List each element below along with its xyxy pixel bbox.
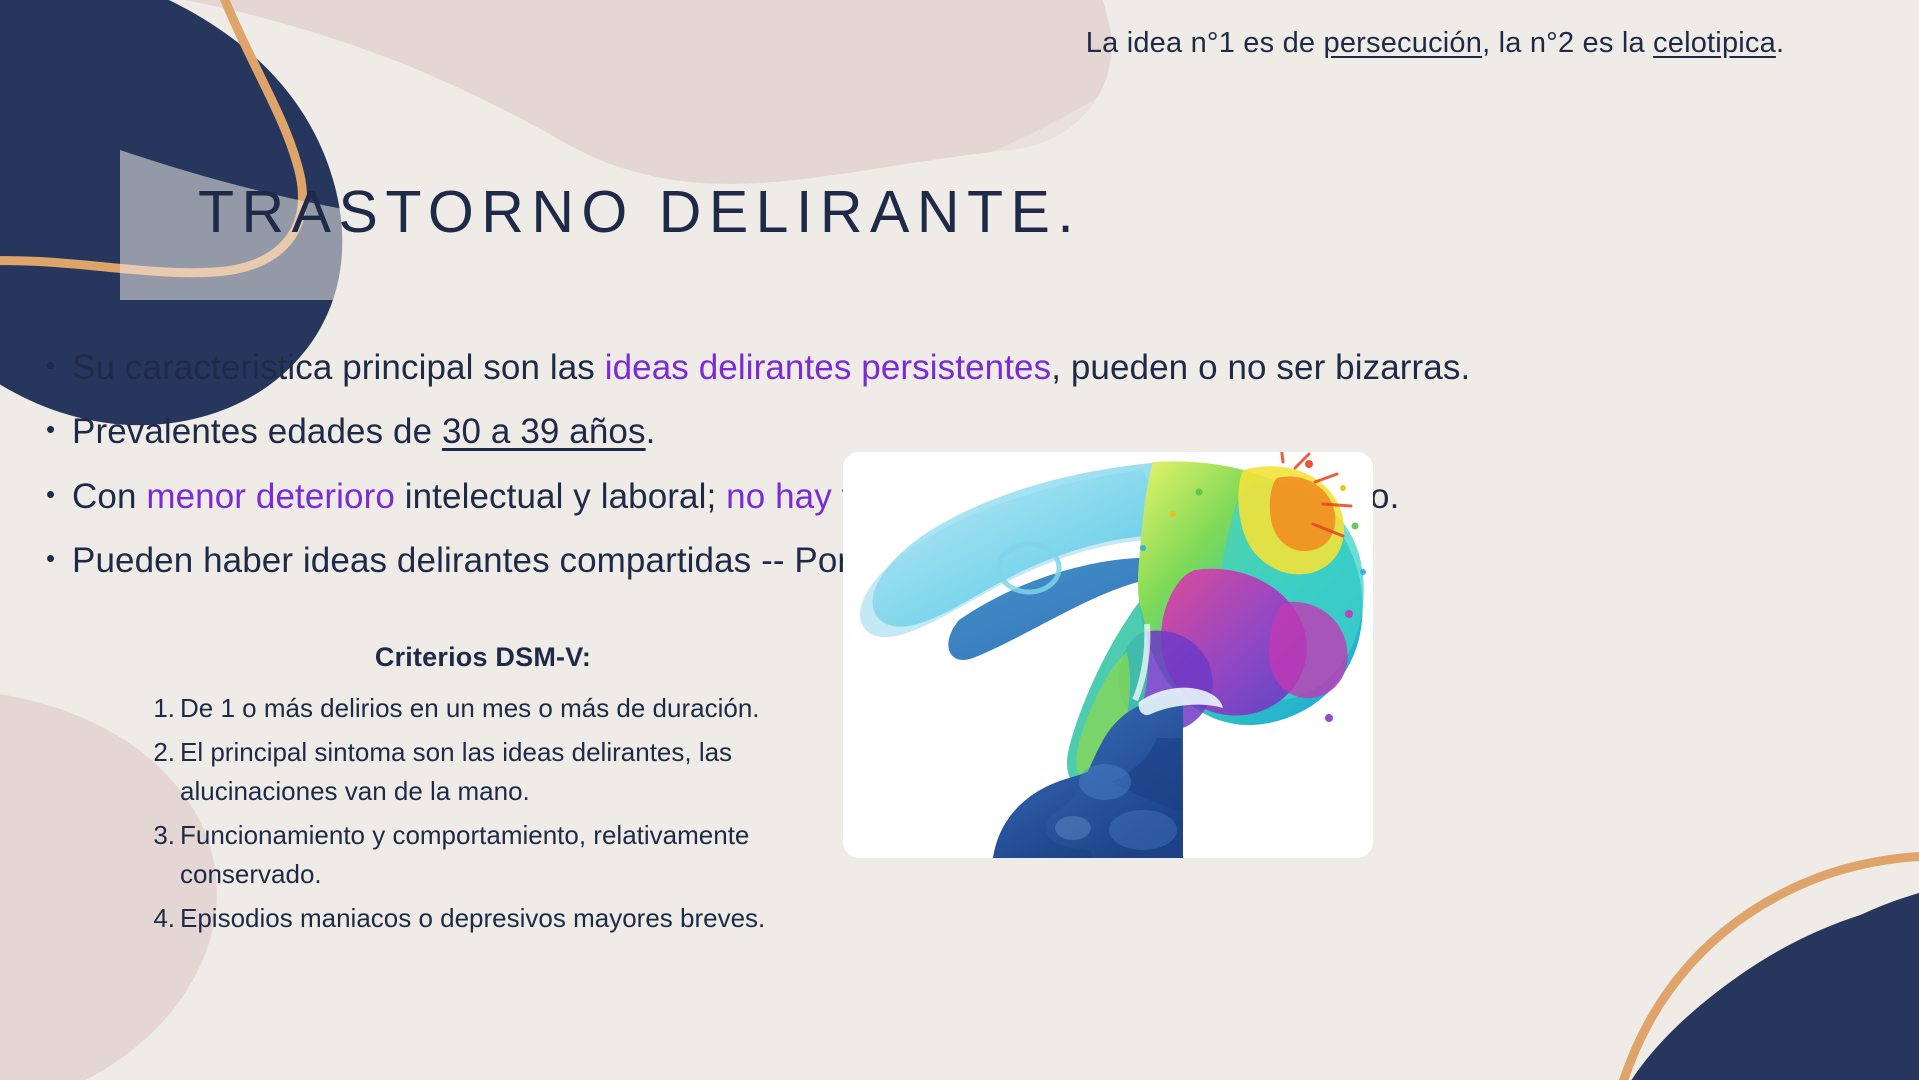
criteria-item: 3.Funcionamiento y comportamiento, relat…	[143, 816, 823, 894]
note-underlined-persecucion: persecución	[1324, 27, 1483, 59]
top-right-note: La idea n°1 es de persecución, la n°2 es…	[1085, 22, 1785, 65]
criteria-item-text: Episodios maniacos o depresivos mayores …	[180, 899, 823, 938]
criteria-item: 1.De 1 o más delirios en un mes o más de…	[143, 689, 823, 728]
bullet-text-segment: menor deterioro	[146, 477, 395, 516]
criteria-item-text: El principal sintoma son las ideas delir…	[180, 733, 823, 811]
criteria-item-number: 4.	[143, 899, 180, 938]
bullet-text: Su caracteristica principal son las idea…	[72, 340, 1766, 395]
note-part-2: , la n°2 es la	[1482, 27, 1653, 59]
bullet-marker-icon: •	[46, 469, 72, 520]
criteria-item: 2.El principal sintoma son las ideas del…	[143, 733, 823, 811]
slide-canvas: La idea n°1 es de persecución, la n°2 es…	[0, 0, 1919, 1080]
bullet-marker-icon: •	[46, 340, 72, 391]
page-title: TRASTORNO DELIRANTE.	[198, 178, 1081, 246]
criteria-item-number: 3.	[143, 816, 180, 855]
bullet-text-segment: ideas delirantes persistentes	[605, 348, 1051, 387]
bullet-marker-icon: •	[46, 404, 72, 455]
note-part-3: .	[1776, 27, 1784, 59]
bullet-text-segment: intelectual y laboral;	[395, 477, 726, 516]
navy-blob-bottom-right	[1620, 896, 1919, 1080]
bullet-item: •Su caracteristica principal son las ide…	[46, 340, 1766, 395]
note-part-1: La idea n°1 es de	[1086, 27, 1324, 59]
pink-blob-top-left	[0, 0, 1112, 184]
criteria-list: 1.De 1 o más delirios en un mes o más de…	[143, 689, 823, 938]
tan-curve-top-left	[0, 0, 302, 345]
criteria-item-number: 1.	[143, 689, 180, 728]
bullet-text-segment: 30 a 39 años	[442, 412, 646, 451]
criteria-item-text: De 1 o más delirios en un mes o más de d…	[180, 689, 823, 728]
criteria-item-text: Funcionamiento y comportamiento, relativ…	[180, 816, 823, 894]
bullet-text-segment: , pueden o no ser bizarras.	[1051, 348, 1470, 387]
bullet-text-segment: Prevalentes edades de	[72, 412, 442, 451]
bullet-marker-icon: •	[46, 533, 72, 584]
bullet-text-segment: Con	[72, 477, 146, 516]
watercolor-head-brain-illustration	[843, 452, 1373, 858]
criteria-heading: Criterios DSM-V:	[143, 637, 823, 678]
note-underlined-celotipica: celotipica	[1653, 27, 1776, 59]
illustration-card	[843, 452, 1373, 858]
criteria-item-number: 2.	[143, 733, 180, 772]
criteria-item: 4.Episodios maniacos o depresivos mayore…	[143, 899, 823, 938]
criteria-section: Criterios DSM-V: 1.De 1 o más delirios e…	[143, 637, 823, 943]
cream-wash-top	[120, 40, 1180, 300]
bullet-text-segment: Su caracteristica principal son las	[72, 348, 605, 387]
tan-curve-bottom-right	[1615, 856, 1919, 1080]
navy-blob-bottom-right-2	[1658, 879, 1919, 1080]
bullet-text-segment: .	[646, 412, 656, 451]
pink-blob-top-left-2	[0, 0, 1108, 181]
